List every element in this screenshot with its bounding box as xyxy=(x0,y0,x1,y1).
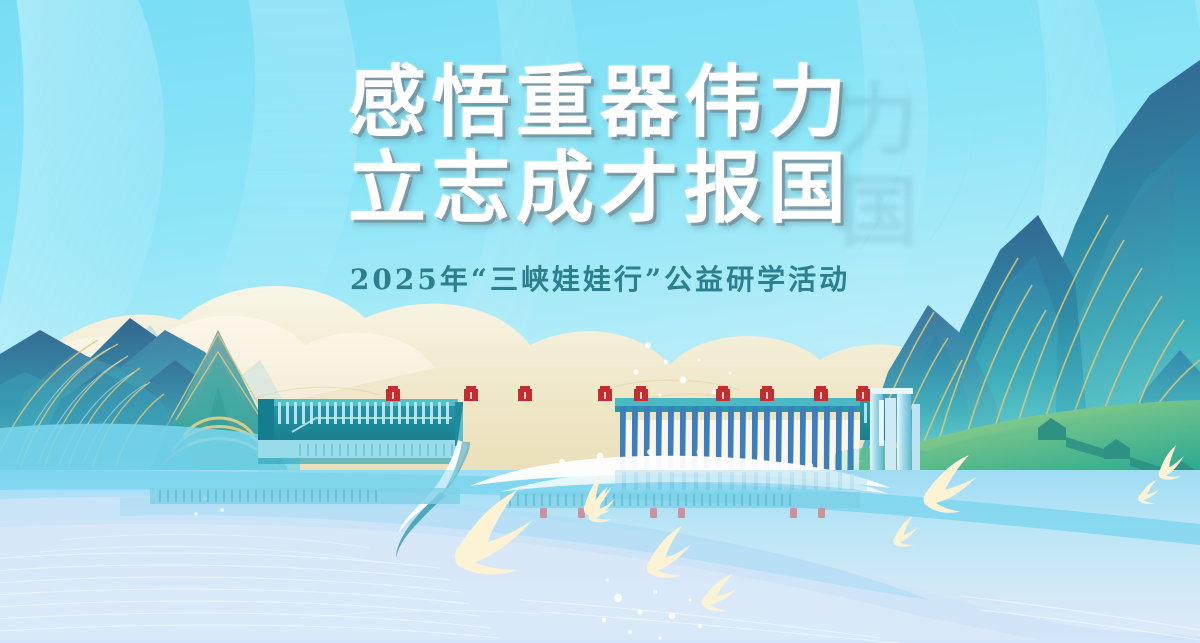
poster-root: 力 国 xyxy=(0,0,1200,643)
bird-swallow-8 xyxy=(1138,479,1161,505)
birds-layer xyxy=(0,0,1200,643)
bird-swallow-2 xyxy=(647,526,691,578)
bird-swallow-9 xyxy=(701,570,740,614)
bird-swallow-5 xyxy=(922,451,978,516)
bird-swallow-7 xyxy=(1154,444,1187,481)
bird-swallow-1 xyxy=(455,490,533,574)
bird-swallow-6 xyxy=(892,516,920,548)
